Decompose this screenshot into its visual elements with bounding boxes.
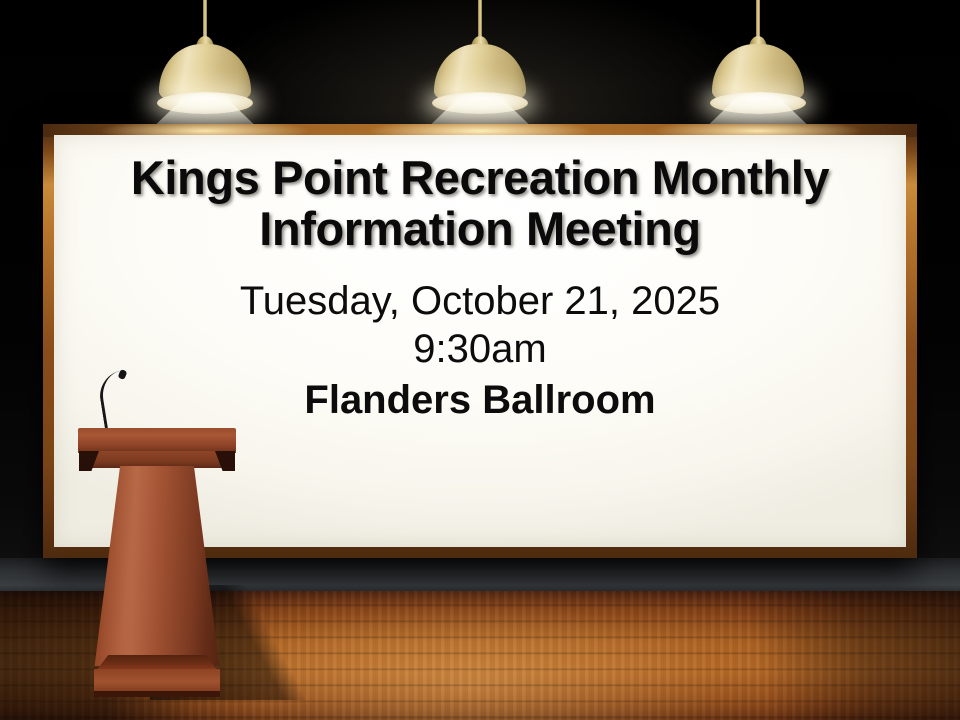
presentation-slide: Kings Point Recreation Monthly Informati… [0, 0, 960, 720]
microphone-head-icon [118, 369, 128, 380]
podium-body [86, 466, 228, 666]
lamp-cord-icon [478, 0, 482, 40]
meeting-date: Tuesday, October 21, 2025 [71, 277, 889, 326]
podium-base-edge [94, 691, 220, 697]
page-title: Kings Point Recreation Monthly Informati… [71, 153, 889, 255]
lamp-bulb-glow-icon [432, 92, 528, 114]
lamp-bulb-glow-icon [157, 92, 253, 114]
podium [74, 370, 240, 700]
floor-shadow-right [710, 591, 960, 720]
lamp-cord-icon [203, 0, 207, 40]
microphone-icon [96, 370, 132, 435]
lamp-cord-icon [756, 0, 760, 40]
podium-lip [78, 451, 236, 468]
lamp-bulb-glow-icon [710, 92, 806, 114]
meeting-time: 9:30am [71, 325, 889, 374]
podium-top-surface [78, 428, 236, 453]
